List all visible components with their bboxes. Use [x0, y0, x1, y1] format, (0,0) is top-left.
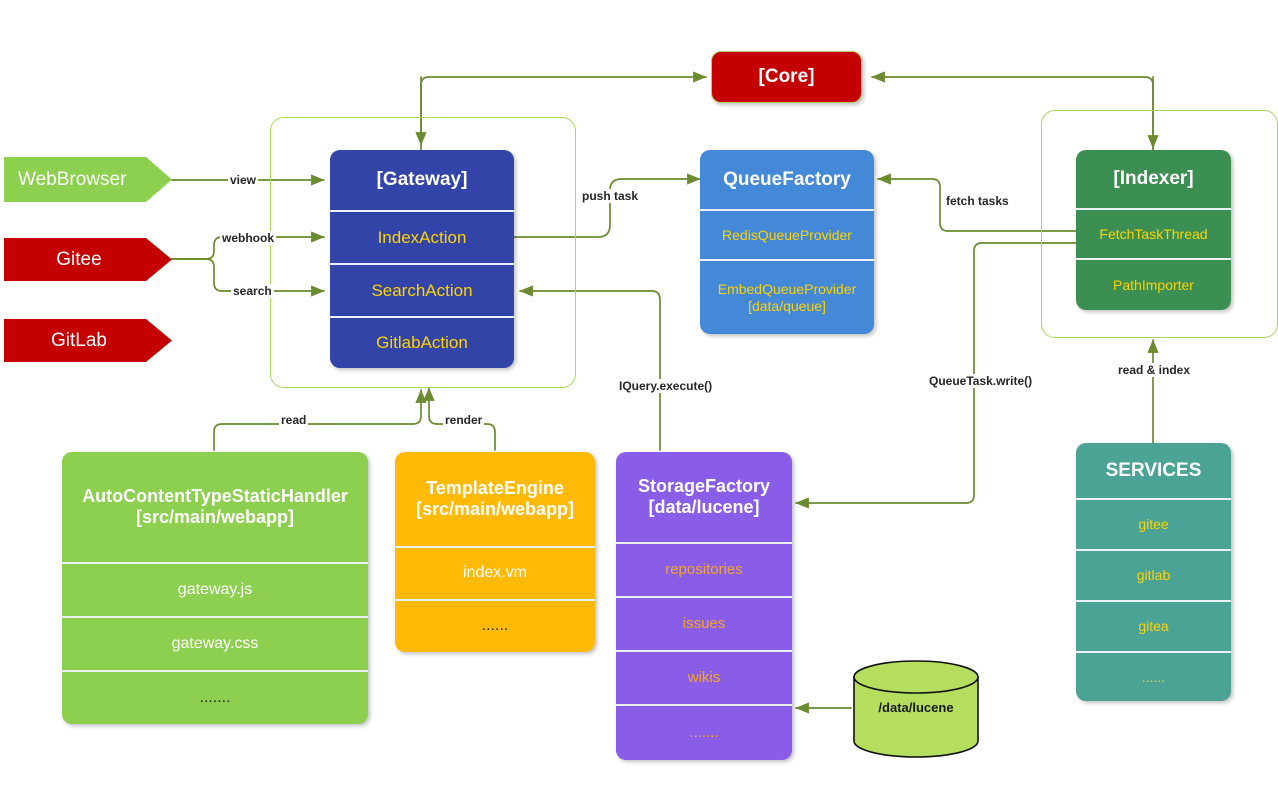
node-template-engine[interactable]: TemplateEngine [src/main/webapp] index.v…: [395, 452, 595, 652]
actor-webbrowser-label: WebBrowser: [18, 169, 172, 191]
edge-label-iquery-execute: IQuery.execute(): [617, 379, 714, 393]
actor-gitee[interactable]: Gitee: [4, 238, 172, 281]
node-gateway-row-gitlabaction[interactable]: GitlabAction: [330, 316, 514, 368]
node-queue-factory-row-redis[interactable]: RedisQueueProvider: [700, 209, 874, 259]
node-services-row-gitlab[interactable]: gitlab: [1076, 549, 1231, 600]
edge-label-view: view: [228, 173, 258, 187]
node-static-handler-row-gatewaycss[interactable]: gateway.css: [62, 616, 368, 670]
node-gateway-header: [Gateway]: [330, 150, 514, 210]
node-queue-factory-row-embed[interactable]: EmbedQueueProvider [data/queue]: [700, 259, 874, 334]
node-services-row-gitee[interactable]: gitee: [1076, 498, 1231, 549]
edge-label-fetch-tasks: fetch tasks: [944, 194, 1011, 208]
node-storage-factory-row-wikis[interactable]: wikis: [616, 650, 792, 704]
actor-webbrowser[interactable]: WebBrowser: [4, 157, 172, 202]
node-indexer-header: [Indexer]: [1076, 150, 1231, 208]
node-storage-factory-row-repositories[interactable]: repositories: [616, 542, 792, 596]
node-static-handler-row-gatewayjs[interactable]: gateway.js: [62, 562, 368, 616]
node-indexer-row-pathimporter[interactable]: PathImporter: [1076, 258, 1231, 310]
node-static-handler-header: AutoContentTypeStaticHandler [src/main/w…: [62, 452, 368, 562]
node-core-header: [Core]: [712, 52, 861, 102]
edge-label-render: render: [443, 413, 484, 427]
edge-label-read-and-index: read & index: [1116, 363, 1192, 377]
node-template-engine-header: TemplateEngine [src/main/webapp]: [395, 452, 595, 546]
edge-label-push-task: push task: [580, 189, 640, 203]
node-template-engine-row-more[interactable]: ......: [395, 599, 595, 652]
node-static-handler-row-more[interactable]: .......: [62, 670, 368, 724]
architecture-diagram: WebBrowser Gitee GitLab [Core] [Gateway]…: [0, 0, 1278, 788]
node-storage-factory-row-issues[interactable]: issues: [616, 596, 792, 650]
node-storage-factory-row-more[interactable]: .......: [616, 704, 792, 760]
node-services[interactable]: SERVICES gitee gitlab gitea ......: [1076, 443, 1231, 701]
node-gateway-row-searchaction[interactable]: SearchAction: [330, 263, 514, 316]
datastore-cylinder[interactable]: /data/lucene: [851, 660, 981, 758]
wire-read: [214, 390, 421, 450]
actor-gitlab[interactable]: GitLab: [4, 319, 172, 362]
node-queue-factory-header: QueueFactory: [700, 150, 874, 209]
actor-gitlab-label: GitLab: [4, 330, 154, 352]
node-indexer[interactable]: [Indexer] FetchTaskThread PathImporter: [1076, 150, 1231, 310]
node-static-handler[interactable]: AutoContentTypeStaticHandler [src/main/w…: [62, 452, 368, 724]
node-gateway-row-indexaction[interactable]: IndexAction: [330, 210, 514, 263]
node-services-header: SERVICES: [1076, 443, 1231, 498]
actor-gitee-label: Gitee: [4, 249, 154, 271]
node-indexer-row-fetchtaskthread[interactable]: FetchTaskThread: [1076, 208, 1231, 258]
node-services-row-gitea[interactable]: gitea: [1076, 600, 1231, 651]
edge-label-queuetask-write: QueueTask.write(): [927, 374, 1034, 388]
node-template-engine-row-indexvm[interactable]: index.vm: [395, 546, 595, 599]
edge-label-webhook: webhook: [220, 231, 276, 245]
node-core[interactable]: [Core]: [711, 51, 862, 103]
node-gateway[interactable]: [Gateway] IndexAction SearchAction Gitla…: [330, 150, 514, 368]
node-services-row-more[interactable]: ......: [1076, 651, 1231, 701]
node-queue-factory[interactable]: QueueFactory RedisQueueProvider EmbedQue…: [700, 150, 874, 334]
edge-label-search: search: [231, 284, 274, 298]
node-storage-factory-header: StorageFactory [data/lucene]: [616, 452, 792, 542]
node-storage-factory[interactable]: StorageFactory [data/lucene] repositorie…: [616, 452, 792, 760]
cylinder-icon: [851, 660, 981, 758]
edge-label-read: read: [279, 413, 308, 427]
